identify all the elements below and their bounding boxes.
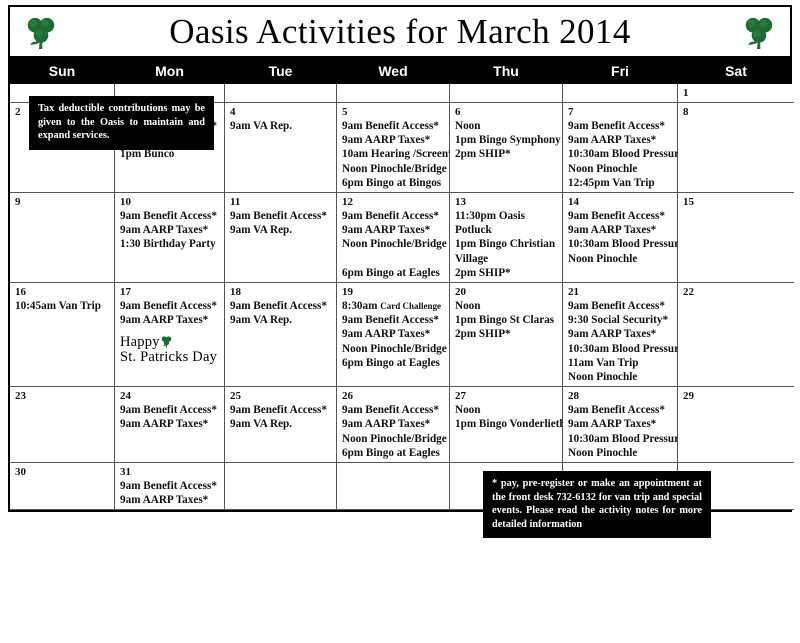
day-number: 11 <box>230 196 332 208</box>
day-number: 26 <box>342 390 445 402</box>
event-item[interactable]: Noon <box>455 299 558 313</box>
day-number: 22 <box>683 286 790 298</box>
day-events: 9am Benefit Access*9am AARP Taxes* <box>120 479 220 507</box>
calendar-title-banner: Oasis Activities for March 2014 <box>8 5 792 58</box>
event-item[interactable]: 9am Benefit Access* <box>568 299 673 313</box>
page-title: Oasis Activities for March 2014 <box>169 14 631 49</box>
event-item[interactable]: 6pm Bingo at Bingos <box>342 176 445 190</box>
day-events: 9am Benefit Access*9am AARP Taxes*10:30a… <box>568 209 673 266</box>
event-item[interactable]: 10:30am Blood Pressure <box>568 147 673 161</box>
calendar-day-cell-11[interactable]: 119am Benefit Access*9am VA Rep. <box>225 193 337 283</box>
day-events: 9am Benefit Access*9:30 Social Security*… <box>568 299 673 384</box>
event-item[interactable]: 9am AARP Taxes* <box>120 417 220 431</box>
event-item[interactable]: 11am Van Trip <box>568 356 673 370</box>
day-number: 1 <box>683 87 790 99</box>
calendar-day-cell-23[interactable]: 23 <box>10 387 115 463</box>
event-item[interactable]: 6pm Bingo at Eagles <box>342 446 445 460</box>
event-item[interactable]: 9am Benefit Access* <box>230 299 332 313</box>
donation-note-text: Tax deductible contributions may be give… <box>38 102 205 143</box>
calendar-day-cell-empty[interactable]: Tax deductible contributions may be give… <box>10 84 115 103</box>
day-events: 9am Benefit Access*9am VA Rep. <box>230 209 332 237</box>
event-item[interactable]: Noon Pinochle <box>568 370 673 384</box>
calendar-day-cell-empty[interactable] <box>337 463 450 510</box>
day-events: Noon1pm Bingo St Claras2pm SHIP* <box>455 299 558 342</box>
calendar-day-cell-empty[interactable] <box>225 84 337 103</box>
calendar-day-cell-21[interactable]: 219am Benefit Access*9:30 Social Securit… <box>563 283 678 387</box>
st-patricks-day-graphic: HappySt. Patricks Day <box>120 334 220 365</box>
event-item[interactable]: 9am Benefit Access* <box>568 403 673 417</box>
event-item[interactable]: 9am AARP Taxes* <box>120 493 220 507</box>
event-item[interactable]: 9am Benefit Access* <box>120 209 220 223</box>
day-number: 23 <box>15 390 110 402</box>
day-events: 9am Benefit Access*9am VA Rep. <box>230 299 332 327</box>
calendar-day-cell-empty[interactable] <box>225 463 337 510</box>
event-item[interactable]: 10am Hearing /Screen* <box>342 147 445 161</box>
day-number: 18 <box>230 286 332 298</box>
event-item[interactable]: 12:45pm Van Trip <box>568 176 673 190</box>
calendar-day-cell-31[interactable]: 319am Benefit Access*9am AARP Taxes* <box>115 463 225 510</box>
day-number: 14 <box>568 196 673 208</box>
event-item[interactable]: 9am Benefit Access* <box>342 119 445 133</box>
calendar-day-cell-20[interactable]: 20Noon1pm Bingo St Claras2pm SHIP* <box>450 283 563 387</box>
day-number: 29 <box>683 390 790 402</box>
calendar-day-cell-15[interactable]: 15 <box>678 193 794 283</box>
day-number: 27 <box>455 390 558 402</box>
day-events: 11:30pm OasisPotluck1pm Bingo ChristianV… <box>455 209 558 280</box>
event-item[interactable]: 9am AARP Taxes* <box>342 133 445 147</box>
day-number: 30 <box>15 466 110 478</box>
day-number: 31 <box>120 466 220 478</box>
st-patricks-line1: Happy <box>120 334 160 350</box>
day-number: 10 <box>120 196 220 208</box>
event-item[interactable]: 1pm Bingo St Claras <box>455 313 558 327</box>
day-events: Noon1pm Bingo Vonderlieth <box>455 403 558 431</box>
calendar-day-cell-10[interactable]: 109am Benefit Access*9am AARP Taxes*1:30… <box>115 193 225 283</box>
calendar-day-cell-empty[interactable] <box>563 84 678 103</box>
day-events: 8:30am Card Challenge9am Benefit Access*… <box>342 299 445 370</box>
event-item[interactable]: Potluck <box>455 223 558 237</box>
day-number: 8 <box>683 106 790 118</box>
event-item[interactable]: Noon <box>455 403 558 417</box>
event-item[interactable]: Noon <box>455 119 558 133</box>
calendar-day-cell-24[interactable]: 249am Benefit Access*9am AARP Taxes* <box>115 387 225 463</box>
event-item[interactable]: 9am Benefit Access* <box>230 403 332 417</box>
day-events: 9am Benefit Access*9am AARP Taxes*10am H… <box>342 119 445 190</box>
shamrock-icon <box>160 335 173 348</box>
event-item[interactable]: Noon Pinochle/Bridge <box>342 162 445 176</box>
event-item[interactable]: Noon Pinochle/Bridge <box>342 342 445 356</box>
event-item[interactable]: 9am Benefit Access* <box>342 209 445 223</box>
calendar-day-cell-19[interactable]: 198:30am Card Challenge9am Benefit Acces… <box>337 283 450 387</box>
event-item[interactable]: 9am Benefit Access* <box>342 403 445 417</box>
event-item[interactable]: 1pm Bingo Symphony <box>455 133 558 147</box>
event-item[interactable]: Noon Pinochle <box>568 446 673 460</box>
event-item[interactable]: 9am AARP Taxes* <box>120 223 220 237</box>
day-number: 13 <box>455 196 558 208</box>
event-item[interactable]: 9am AARP Taxes* <box>568 417 673 431</box>
calendar-day-cell-22[interactable]: 22 <box>678 283 794 387</box>
calendar-day-cell-12[interactable]: 129am Benefit Access*9am AARP Taxes*Noon… <box>337 193 450 283</box>
calendar-day-cell-29[interactable]: 29 <box>678 387 794 463</box>
event-item[interactable]: 8:30am Card Challenge <box>342 299 445 313</box>
event-item[interactable]: 9am VA Rep. <box>230 223 332 237</box>
day-number: 6 <box>455 106 558 118</box>
calendar-grid: Tax deductible contributions may be give… <box>8 84 792 512</box>
event-item[interactable]: 6pm Bingo at Eagles <box>342 266 445 280</box>
event-item[interactable]: 9am AARP Taxes* <box>568 223 673 237</box>
day-number: 21 <box>568 286 673 298</box>
event-item[interactable]: 9am VA Rep. <box>230 417 332 431</box>
weekday-header-wed: Wed <box>337 58 450 84</box>
day-number: 9 <box>15 196 110 208</box>
event-item[interactable]: 2pm SHIP* <box>455 147 558 161</box>
footnote-note-box: * pay, pre-register or make an appointme… <box>483 471 711 538</box>
event-item[interactable]: Noon Pinochle <box>568 252 673 266</box>
day-number: 16 <box>15 286 110 298</box>
day-number: 15 <box>683 196 790 208</box>
day-number: 4 <box>230 106 332 118</box>
event-item[interactable]: 9am AARP Taxes* <box>342 223 445 237</box>
day-events: Noon1pm Bingo Symphony2pm SHIP* <box>455 119 558 162</box>
day-number: 24 <box>120 390 220 402</box>
event-item[interactable]: 9am VA Rep. <box>230 119 332 133</box>
event-item[interactable]: 9am AARP Taxes* <box>342 417 445 431</box>
event-item[interactable]: 10:30am Blood Pressure <box>568 432 673 446</box>
event-item[interactable]: 10:45am Van Trip <box>15 299 110 313</box>
calendar-day-cell-1[interactable]: 1 <box>678 84 794 103</box>
calendar-day-cell-empty[interactable]: * pay, pre-register or make an appointme… <box>450 463 563 510</box>
day-events: 9am Benefit Access*9am AARP Taxes*1:30 B… <box>120 209 220 252</box>
calendar-page: Oasis Activities for March 2014 Sun <box>0 0 800 643</box>
day-events: 9am Benefit Access*9am VA Rep. <box>230 403 332 431</box>
calendar-day-cell-30[interactable]: 30 <box>10 463 115 510</box>
event-item[interactable]: 2pm SHIP* <box>455 266 558 280</box>
event-item[interactable]: 9am Benefit Access* <box>120 479 220 493</box>
calendar-day-cell-27[interactable]: 27Noon1pm Bingo Vonderlieth <box>450 387 563 463</box>
weekday-header-sun: Sun <box>10 58 115 84</box>
event-item[interactable]: Noon Pinochle/Bridge <box>342 432 445 446</box>
event-item[interactable]: Noon Pinochle <box>568 162 673 176</box>
day-number: 12 <box>342 196 445 208</box>
calendar-day-cell-17[interactable]: 179am Benefit Access*9am AARP Taxes*Happ… <box>115 283 225 387</box>
weekday-header-tue: Tue <box>225 58 337 84</box>
day-events: 9am Benefit Access*9am AARP Taxes*10:30a… <box>568 119 673 190</box>
day-events: 10:45am Van Trip <box>15 299 110 313</box>
event-item[interactable]: 1:30 Birthday Party <box>120 237 220 251</box>
calendar-day-cell-25[interactable]: 259am Benefit Access*9am VA Rep. <box>225 387 337 463</box>
event-item[interactable]: Noon Pinochle/Bridge <box>342 237 445 251</box>
day-events: 9am Benefit Access*9am AARP Taxes* <box>120 299 220 327</box>
day-number: 19 <box>342 286 445 298</box>
st-patricks-line2: St. Patricks Day <box>120 349 220 365</box>
calendar-day-cell-13[interactable]: 1311:30pm OasisPotluck1pm Bingo Christia… <box>450 193 563 283</box>
calendar-day-cell-18[interactable]: 189am Benefit Access*9am VA Rep. <box>225 283 337 387</box>
calendar-day-cell-4[interactable]: 49am VA Rep. <box>225 103 337 193</box>
day-events: 9am Benefit Access*9am AARP Taxes*Noon P… <box>342 403 445 460</box>
event-item[interactable]: 1pm Bunco <box>120 147 220 161</box>
calendar-day-cell-9[interactable]: 9 <box>10 193 115 283</box>
calendar-day-cell-8[interactable]: 8 <box>678 103 794 193</box>
event-item[interactable]: 9am AARP Taxes* <box>120 313 220 327</box>
donation-note-box: Tax deductible contributions may be give… <box>29 96 214 150</box>
day-number: 20 <box>455 286 558 298</box>
calendar-day-cell-26[interactable]: 269am Benefit Access*9am AARP Taxes*Noon… <box>337 387 450 463</box>
event-item[interactable]: 10:30am Blood Pressure <box>568 342 673 356</box>
calendar-day-cell-14[interactable]: 149am Benefit Access*9am AARP Taxes*10:3… <box>563 193 678 283</box>
event-item[interactable]: 9am Benefit Access* <box>342 313 445 327</box>
day-events: 9am Benefit Access*9am AARP Taxes*10:30a… <box>568 403 673 460</box>
calendar-day-cell-7[interactable]: 79am Benefit Access*9am AARP Taxes*10:30… <box>563 103 678 193</box>
day-number: 17 <box>120 286 220 298</box>
event-item[interactable]: 10:30am Blood Pressure <box>568 237 673 251</box>
day-number: 28 <box>568 390 673 402</box>
event-item[interactable]: 9am Benefit Access* <box>568 119 673 133</box>
event-spacer <box>342 252 445 266</box>
calendar-day-cell-16[interactable]: 1610:45am Van Trip <box>10 283 115 387</box>
event-item[interactable]: Village <box>455 252 558 266</box>
event-item[interactable]: 9am Benefit Access* <box>230 209 332 223</box>
event-item[interactable]: 9am AARP Taxes* <box>342 327 445 341</box>
event-item[interactable]: 6pm Bingo at Eagles <box>342 356 445 370</box>
day-number: 25 <box>230 390 332 402</box>
day-events: 9am VA Rep. <box>230 119 332 133</box>
weekday-header-thu: Thu <box>450 58 563 84</box>
calendar-day-cell-empty[interactable] <box>337 84 450 103</box>
day-events: 9am Benefit Access*9am AARP Taxes* <box>120 403 220 431</box>
event-item[interactable]: 9:30 Social Security* <box>568 313 673 327</box>
footnote-note-text: * pay, pre-register or make an appointme… <box>492 477 702 531</box>
calendar-day-cell-5[interactable]: 59am Benefit Access*9am AARP Taxes*10am … <box>337 103 450 193</box>
weekday-header-row: Sun Mon Tue Wed Thu Fri Sat <box>8 58 792 84</box>
shamrock-icon <box>24 14 58 50</box>
day-events: 9am Benefit Access*9am AARP Taxes*Noon P… <box>342 209 445 280</box>
event-item[interactable]: 9am Benefit Access* <box>120 299 220 313</box>
event-item[interactable]: 9am AARP Taxes* <box>568 133 673 147</box>
event-item[interactable]: 1pm Bingo Vonderlieth <box>455 417 558 431</box>
event-item[interactable]: 2pm SHIP* <box>455 327 558 341</box>
event-item[interactable]: 9am AARP Taxes* <box>568 327 673 341</box>
day-number: 7 <box>568 106 673 118</box>
event-item[interactable]: 9am Benefit Access* <box>568 209 673 223</box>
calendar-day-cell-28[interactable]: 289am Benefit Access*9am AARP Taxes*10:3… <box>563 387 678 463</box>
weekday-header-sat: Sat <box>678 58 794 84</box>
day-number: 5 <box>342 106 445 118</box>
event-item[interactable]: 1pm Bingo Christian <box>455 237 558 251</box>
event-item[interactable]: 11:30pm Oasis <box>455 209 558 223</box>
weekday-header-mon: Mon <box>115 58 225 84</box>
event-item[interactable]: 9am Benefit Access* <box>120 403 220 417</box>
event-item[interactable]: 9am VA Rep. <box>230 313 332 327</box>
calendar-day-cell-6[interactable]: 6Noon1pm Bingo Symphony2pm SHIP* <box>450 103 563 193</box>
weekday-header-fri: Fri <box>563 58 678 84</box>
shamrock-icon <box>742 14 776 50</box>
calendar-day-cell-empty[interactable] <box>450 84 563 103</box>
